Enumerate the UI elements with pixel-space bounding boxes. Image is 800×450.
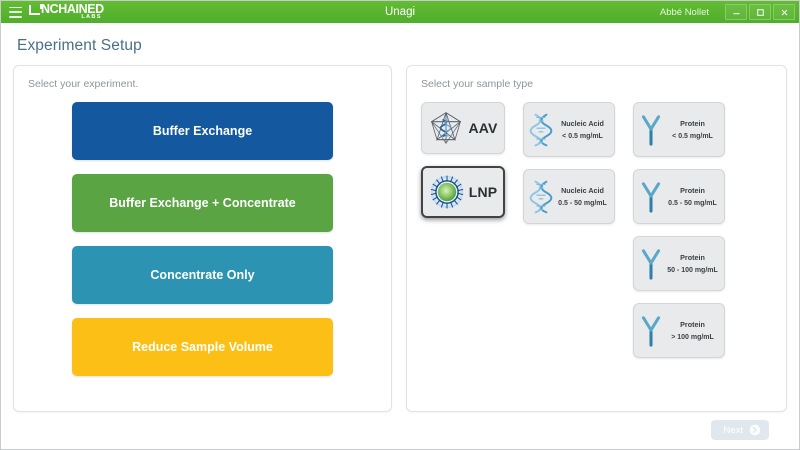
maximize-button[interactable] (749, 4, 771, 20)
sample-card-text: Protein 0.5 - 50 mg/mL (666, 186, 719, 207)
sample-column-particles: AAV (421, 102, 505, 358)
experiment-button-reduce-sample-volume[interactable]: Reduce Sample Volume (72, 318, 333, 376)
lipid-nanoparticle-icon (429, 174, 465, 210)
sample-card-name: Protein (680, 253, 705, 262)
antibody-icon (638, 113, 664, 147)
hamburger-icon[interactable] (9, 7, 22, 18)
sample-column-nucleic-acid: Nucleic Acid < 0.5 mg/mL (523, 102, 615, 358)
page-title: Experiment Setup (17, 37, 787, 55)
sample-card-concentration: 50 - 100 mg/mL (667, 267, 718, 274)
experiment-panel-label: Select your experiment. (28, 78, 391, 90)
sample-card-protein-low[interactable]: Protein < 0.5 mg/mL (633, 102, 725, 157)
sample-card-concentration: < 0.5 mg/mL (672, 133, 713, 140)
sample-card-nucleic-acid-mid[interactable]: Nucleic Acid 0.5 - 50 mg/mL (523, 169, 615, 224)
sample-card-lnp-label: LNP (469, 184, 498, 200)
sample-card-concentration: 0.5 - 50 mg/mL (558, 200, 607, 207)
antibody-icon (638, 180, 664, 214)
sample-type-grid: AAV (407, 102, 786, 358)
sample-card-name: Nucleic Acid (561, 119, 604, 128)
sample-card-name: Protein (680, 186, 705, 195)
experiment-button-buffer-exchange-concentrate[interactable]: Buffer Exchange + Concentrate (72, 174, 333, 232)
sample-card-name: Nucleic Acid (561, 186, 604, 195)
sample-card-text: Protein > 100 mg/mL (666, 320, 719, 341)
dna-helix-icon (528, 112, 554, 148)
sample-panel-label: Select your sample type (421, 78, 786, 90)
sample-card-aav[interactable]: AAV (421, 102, 505, 154)
experiment-panel: Select your experiment. Buffer Exchange … (13, 65, 392, 412)
antibody-icon (638, 247, 664, 281)
sample-card-nucleic-acid-low[interactable]: Nucleic Acid < 0.5 mg/mL (523, 102, 615, 157)
sample-card-name: Protein (680, 320, 705, 329)
sample-card-name: Protein (680, 119, 705, 128)
logo-u-mark (29, 5, 40, 15)
sample-card-concentration: > 100 mg/mL (671, 334, 714, 341)
page-body: Experiment Setup Select your experiment.… (1, 23, 799, 449)
sample-card-text: Protein 50 - 100 mg/mL (666, 253, 719, 274)
brand-logo-sub: LABS (81, 15, 101, 21)
sample-type-panel: Select your sample type (406, 65, 787, 412)
application-window: NCHAINED LABS Unagi Abbé Nollet Experime… (0, 0, 800, 450)
footer-bar: Next (13, 412, 787, 448)
experiment-button-concentrate-only[interactable]: Concentrate Only (72, 246, 333, 304)
sample-card-protein-mid[interactable]: Protein 0.5 - 50 mg/mL (633, 169, 725, 224)
sample-card-text: Nucleic Acid < 0.5 mg/mL (556, 119, 609, 140)
antibody-icon (638, 314, 664, 348)
sample-card-protein-veryhigh[interactable]: Protein > 100 mg/mL (633, 303, 725, 358)
arrow-right-circle-icon (749, 424, 761, 436)
sample-column-protein: Protein < 0.5 mg/mL (633, 102, 725, 358)
experiment-button-buffer-exchange[interactable]: Buffer Exchange (72, 102, 333, 160)
title-bar-right: Abbé Nollet (660, 4, 799, 20)
sample-card-concentration: < 0.5 mg/mL (562, 133, 603, 140)
next-button[interactable]: Next (711, 420, 769, 440)
sample-card-lnp[interactable]: LNP (421, 166, 505, 218)
next-button-label: Next (723, 425, 743, 436)
experiment-button-list: Buffer Exchange Buffer Exchange + Concen… (14, 102, 391, 376)
user-name-label: Abbé Nollet (660, 7, 709, 18)
sample-card-protein-high[interactable]: Protein 50 - 100 mg/mL (633, 236, 725, 291)
minimize-button[interactable] (725, 4, 747, 20)
brand-logo: NCHAINED LABS (29, 3, 104, 21)
title-bar: NCHAINED LABS Unagi Abbé Nollet (1, 1, 799, 23)
sample-card-text: Protein < 0.5 mg/mL (666, 119, 719, 140)
title-bar-left: NCHAINED LABS (1, 3, 104, 21)
icosahedron-icon (428, 110, 464, 146)
dna-helix-icon (528, 179, 554, 215)
close-button[interactable] (773, 4, 795, 20)
panels-row: Select your experiment. Buffer Exchange … (13, 65, 787, 412)
sample-card-concentration: 0.5 - 50 mg/mL (668, 200, 717, 207)
sample-card-text: Nucleic Acid 0.5 - 50 mg/mL (556, 186, 609, 207)
sample-card-aav-label: AAV (468, 120, 497, 136)
